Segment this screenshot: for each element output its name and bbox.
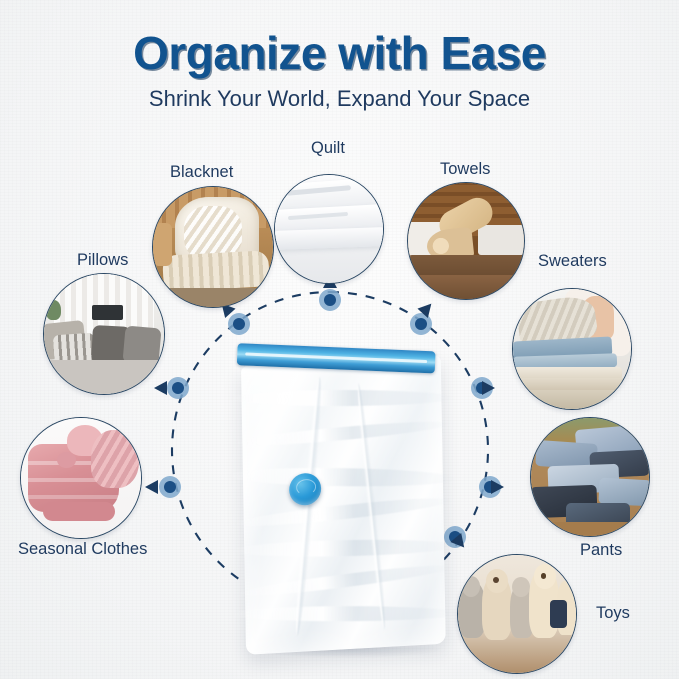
marker-core	[415, 318, 427, 330]
label-blanket: Blacknet	[170, 163, 233, 182]
flow-marker-lower-right	[479, 476, 501, 498]
flow-marker-upper-right	[410, 313, 432, 335]
photo-pillows	[43, 273, 165, 395]
label-towels: Towels	[440, 160, 490, 179]
photo-towels	[407, 182, 525, 300]
marker-core	[172, 382, 184, 394]
photo-quilt	[274, 174, 384, 284]
label-toys: Toys	[596, 604, 630, 623]
arrow-left-icon	[145, 480, 158, 494]
label-pants: Pants	[580, 541, 622, 560]
product-infographic: Organize with Ease Shrink Your World, Ex…	[0, 0, 679, 679]
flow-marker-right	[471, 377, 493, 399]
arrow-right-icon	[482, 381, 495, 395]
page-subtitle: Shrink Your World, Expand Your Space	[0, 86, 679, 112]
bag-valve-icon	[289, 472, 322, 506]
bag-body	[241, 355, 446, 654]
photo-blanket	[152, 186, 274, 308]
label-quilt: Quilt	[311, 139, 345, 158]
vacuum-storage-bag	[235, 338, 457, 659]
flow-marker-upper-left	[228, 313, 250, 335]
label-seasonal-clothes: Seasonal Clothes	[18, 540, 147, 559]
marker-core	[324, 294, 336, 306]
arrow-right-icon	[491, 480, 504, 494]
label-sweaters: Sweaters	[538, 252, 607, 271]
photo-pants	[530, 417, 650, 537]
marker-core	[164, 481, 176, 493]
page-title: Organize with Ease	[0, 26, 679, 80]
label-pillows: Pillows	[77, 251, 128, 270]
marker-core	[233, 318, 245, 330]
flow-marker-top	[319, 289, 341, 311]
flow-marker-left	[167, 377, 189, 399]
photo-toys	[457, 554, 577, 674]
photo-sweaters	[512, 288, 632, 410]
photo-seasonal-clothes	[20, 417, 142, 539]
flow-marker-lower-left	[159, 476, 181, 498]
